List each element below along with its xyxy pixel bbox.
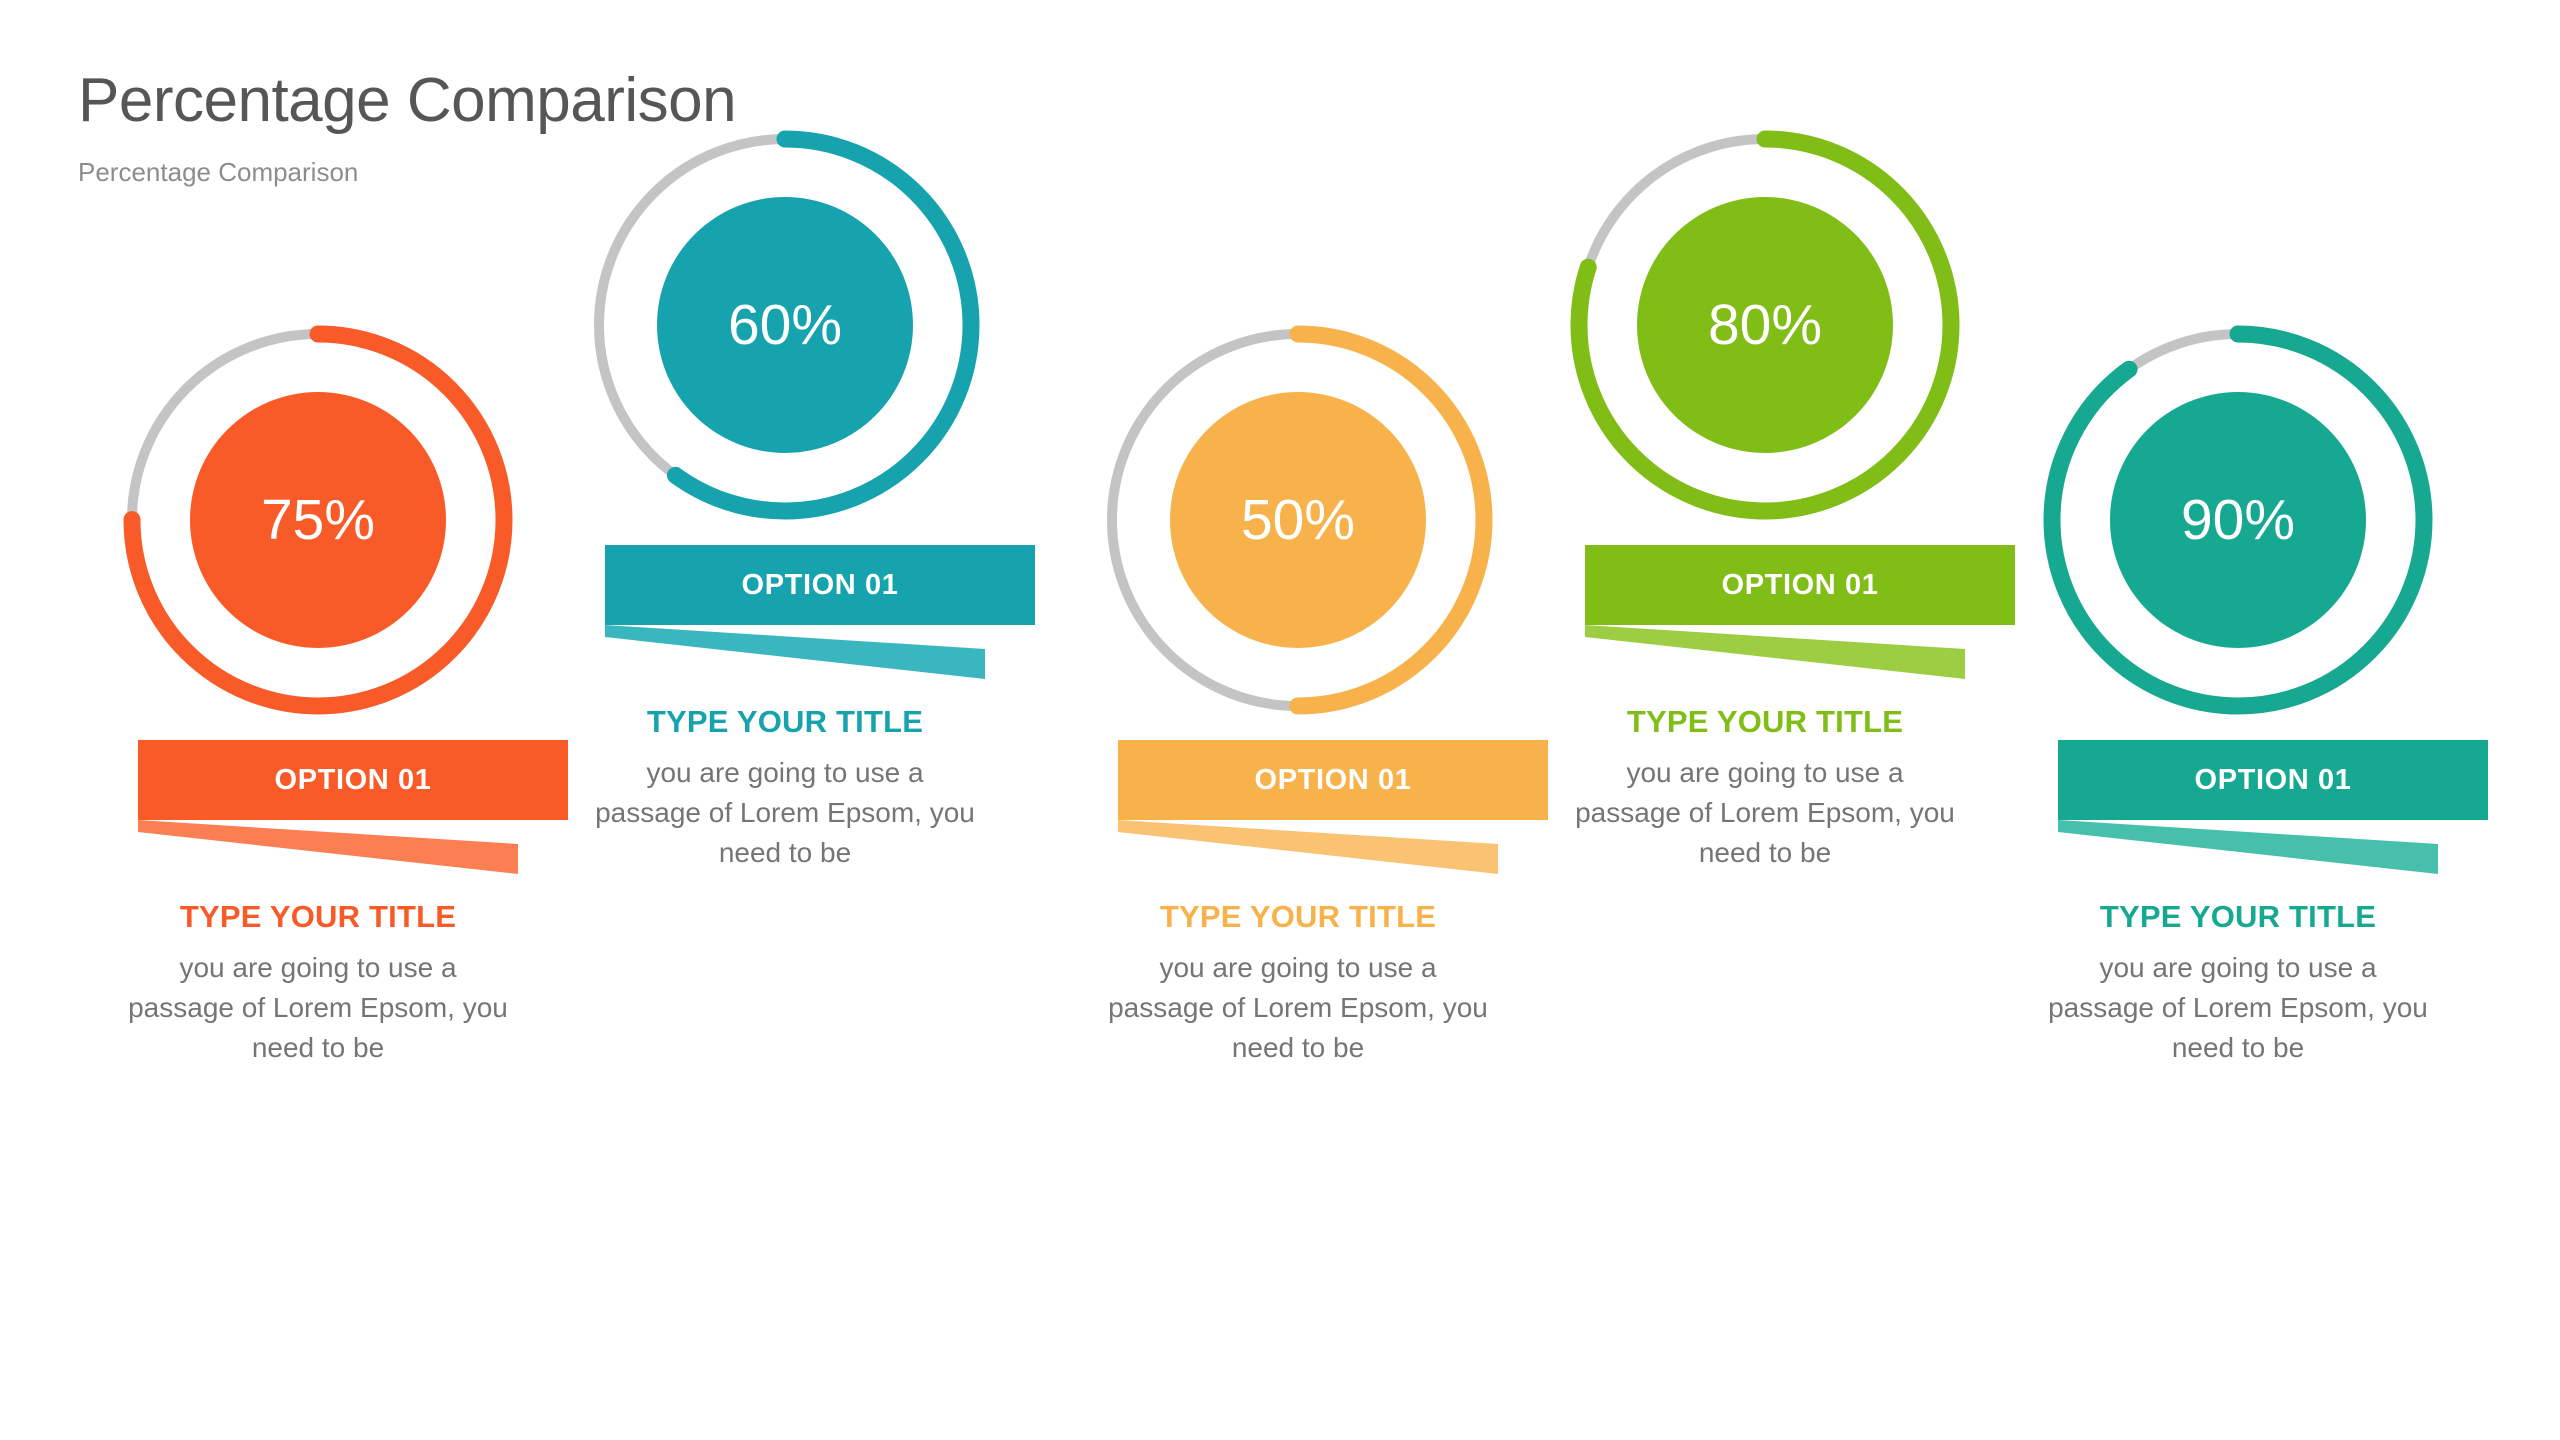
donut-inner-disc (1637, 197, 1893, 453)
ribbon-fold-shadow (605, 625, 985, 679)
ribbon-fold-shadow (1118, 820, 1498, 874)
ribbon-fold-shadow (1585, 625, 1965, 679)
item-title: TYPE YOUR TITLE (565, 705, 1005, 739)
donut-inner-disc (657, 197, 913, 453)
donut-svg (1545, 105, 1985, 545)
percentage-item: 50%OPTION 01TYPE YOUR TITLEyou are going… (1078, 300, 1518, 1067)
option-banner-block: OPTION 01 (2018, 740, 2458, 872)
item-text-block: TYPE YOUR TITLEyou are going to use a pa… (2018, 872, 2458, 1067)
item-text-block: TYPE YOUR TITLEyou are going to use a pa… (1545, 677, 1985, 872)
item-title: TYPE YOUR TITLE (1545, 705, 1985, 739)
donut-chart: 75% (98, 300, 538, 740)
option-banner[interactable]: OPTION 01 (2058, 740, 2488, 820)
option-banner-block: OPTION 01 (565, 545, 1005, 677)
item-description: you are going to use a passage of Lorem … (1103, 948, 1493, 1067)
item-title: TYPE YOUR TITLE (1078, 900, 1518, 934)
item-text-block: TYPE YOUR TITLEyou are going to use a pa… (1078, 872, 1518, 1067)
option-banner-block: OPTION 01 (98, 740, 538, 872)
option-banner-block: OPTION 01 (1545, 545, 1985, 677)
percentage-item: 60%OPTION 01TYPE YOUR TITLEyou are going… (565, 105, 1005, 872)
donut-svg (2018, 300, 2458, 740)
item-text-block: TYPE YOUR TITLEyou are going to use a pa… (565, 677, 1005, 872)
item-title: TYPE YOUR TITLE (98, 900, 538, 934)
option-banner-label: OPTION 01 (1722, 571, 1879, 600)
option-banner-label: OPTION 01 (275, 766, 432, 795)
donut-chart: 60% (565, 105, 1005, 545)
option-banner-label: OPTION 01 (2195, 766, 2352, 795)
percentage-item: 80%OPTION 01TYPE YOUR TITLEyou are going… (1545, 105, 1985, 872)
donut-svg (1078, 300, 1518, 740)
item-title: TYPE YOUR TITLE (2018, 900, 2458, 934)
percentage-columns: 75%OPTION 01TYPE YOUR TITLEyou are going… (0, 0, 2560, 1440)
item-description: you are going to use a passage of Lorem … (590, 753, 980, 872)
donut-inner-disc (2110, 392, 2366, 648)
donut-inner-disc (1170, 392, 1426, 648)
ribbon-fold-shadow (2058, 820, 2438, 874)
donut-svg (98, 300, 538, 740)
option-banner-label: OPTION 01 (1255, 766, 1412, 795)
item-description: you are going to use a passage of Lorem … (123, 948, 513, 1067)
option-banner[interactable]: OPTION 01 (1585, 545, 2015, 625)
donut-chart: 90% (2018, 300, 2458, 740)
percentage-item: 75%OPTION 01TYPE YOUR TITLEyou are going… (98, 300, 538, 1067)
ribbon-fold-shadow (138, 820, 518, 874)
donut-svg (565, 105, 1005, 545)
option-banner[interactable]: OPTION 01 (138, 740, 568, 820)
option-banner-label: OPTION 01 (742, 571, 899, 600)
option-banner[interactable]: OPTION 01 (605, 545, 1035, 625)
option-banner-block: OPTION 01 (1078, 740, 1518, 872)
donut-chart: 50% (1078, 300, 1518, 740)
donut-inner-disc (190, 392, 446, 648)
item-text-block: TYPE YOUR TITLEyou are going to use a pa… (98, 872, 538, 1067)
percentage-item: 90%OPTION 01TYPE YOUR TITLEyou are going… (2018, 300, 2458, 1067)
donut-chart: 80% (1545, 105, 1985, 545)
option-banner[interactable]: OPTION 01 (1118, 740, 1548, 820)
item-description: you are going to use a passage of Lorem … (1570, 753, 1960, 872)
item-description: you are going to use a passage of Lorem … (2043, 948, 2433, 1067)
